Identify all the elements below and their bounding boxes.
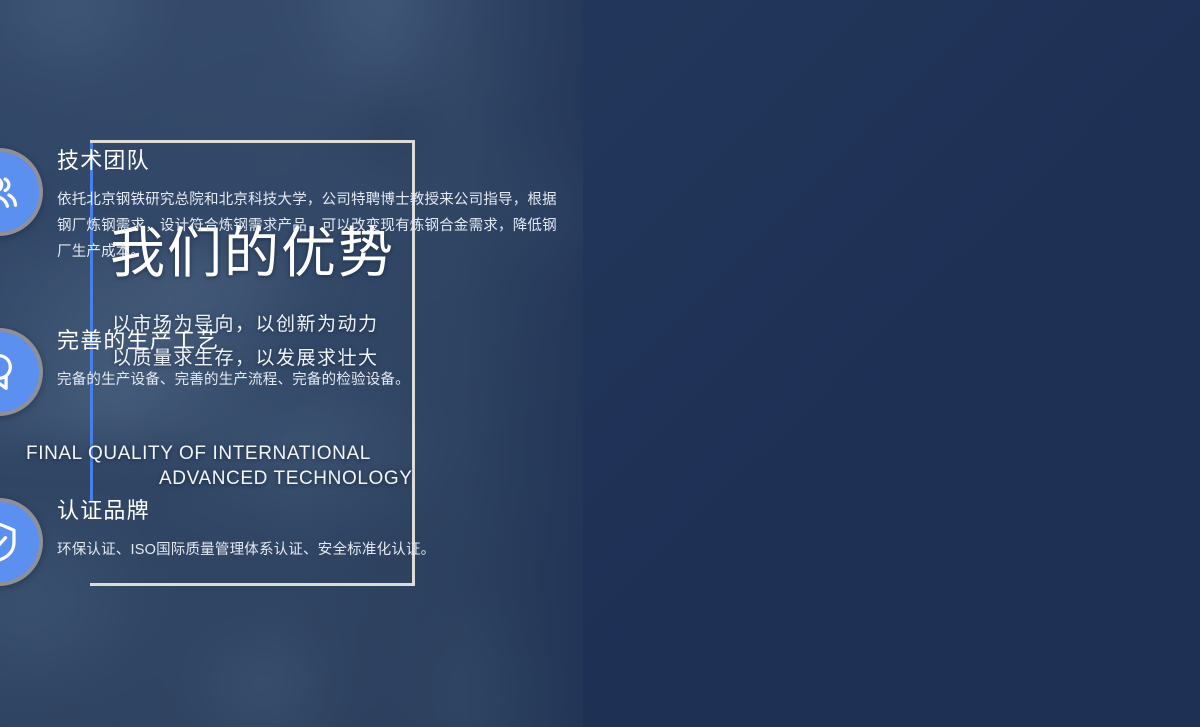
- feature-description: 环保认证、ISO国际质量管理体系认证、安全标准化认证。: [57, 537, 557, 563]
- feature-description: 完备的生产设备、完善的生产流程、完备的检验设备。: [57, 367, 557, 393]
- feature-text-block: 技术团队 依托北京钢铁研究总院和北京科技大学，公司特聘博士教授来公司指导，根据钢…: [57, 148, 557, 265]
- feature-title: 完善的生产工艺: [57, 328, 557, 354]
- feature-title: 认证品牌: [57, 498, 557, 524]
- users-icon: [0, 148, 43, 236]
- feature-description: 依托北京钢铁研究总院和北京科技大学，公司特聘博士教授来公司指导，根据钢厂炼钢需求…: [57, 187, 557, 265]
- feature-text-block: 完善的生产工艺 完备的生产设备、完善的生产流程、完备的检验设备。: [57, 328, 557, 393]
- feature-list: 技术团队 依托北京钢铁研究总院和北京科技大学，公司特聘博士教授来公司指导，根据钢…: [0, 0, 617, 727]
- feature-title: 技术团队: [57, 148, 557, 174]
- medal-icon: [0, 328, 43, 416]
- feature-text-block: 认证品牌 环保认证、ISO国际质量管理体系认证、安全标准化认证。: [57, 498, 557, 563]
- right-panel-shading: [583, 0, 1200, 727]
- right-feature-panel: [583, 0, 1200, 727]
- shield-check-icon: [0, 498, 43, 586]
